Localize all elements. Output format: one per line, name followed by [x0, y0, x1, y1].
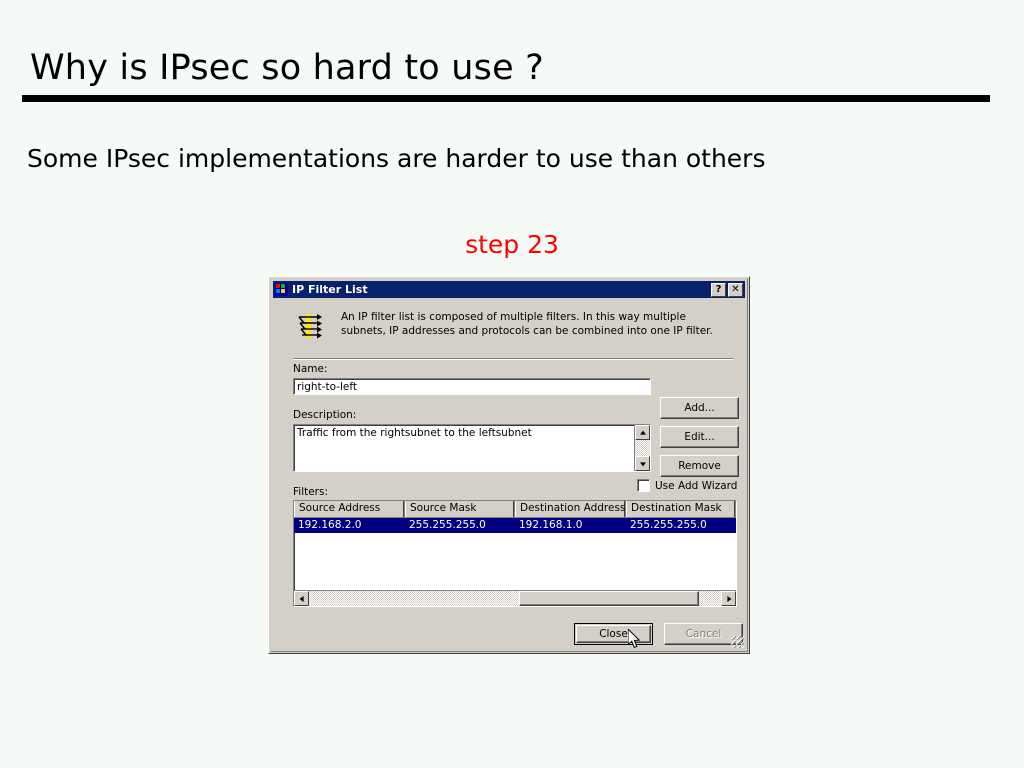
use-add-wizard-label: Use Add Wizard	[655, 480, 737, 492]
dialog-header: An IP filter list is composed of multipl…	[273, 301, 745, 359]
remove-button[interactable]: Remove	[660, 455, 739, 477]
slide-subtitle: Some IPsec implementations are harder to…	[27, 144, 766, 173]
ip-filter-list-dialog: IP Filter List ? ✕	[268, 276, 750, 654]
scroll-left-icon[interactable]	[294, 591, 309, 606]
scroll-right-icon[interactable]	[721, 591, 736, 606]
dialog-title: IP Filter List	[292, 283, 709, 296]
page-title: Why is IPsec so hard to use ?	[30, 48, 544, 88]
close-button-label: Close	[576, 625, 651, 643]
use-add-wizard-checkbox[interactable]: Use Add Wizard	[637, 479, 737, 492]
scroll-down-icon[interactable]	[635, 456, 650, 471]
table-row[interactable]: 192.168.2.0 255.255.255.0 192.168.1.0 25…	[294, 518, 736, 533]
name-label: Name:	[293, 363, 328, 375]
description-textarea[interactable]: Traffic from the rightsubnet to the left…	[293, 424, 651, 472]
scroll-thumb[interactable]	[519, 591, 699, 606]
scroll-up-icon[interactable]	[635, 425, 650, 440]
name-input[interactable]: right-to-left	[293, 378, 651, 395]
step-label: step 23	[0, 230, 1024, 259]
window-icon	[275, 283, 288, 296]
resize-grip[interactable]	[731, 635, 744, 648]
column-header-destination-mask[interactable]: Destination Mask	[626, 501, 736, 517]
description-label: Description:	[293, 409, 356, 421]
dialog-inner-frame: IP Filter List ? ✕	[270, 278, 748, 652]
add-button[interactable]: Add...	[660, 397, 739, 419]
description-scrollbar[interactable]	[634, 425, 650, 471]
close-icon[interactable]: ✕	[728, 283, 743, 297]
description-value: Traffic from the rightsubnet to the left…	[297, 427, 632, 440]
filters-label: Filters:	[293, 486, 328, 498]
listview-horizontal-scrollbar[interactable]	[294, 590, 736, 606]
listview-header: Source Address Source Mask Destination A…	[294, 501, 736, 518]
checkbox-box[interactable]	[637, 479, 650, 492]
edit-button[interactable]: Edit...	[660, 426, 739, 448]
dialog-header-text: An IP filter list is composed of multipl…	[341, 310, 731, 338]
column-header-source-address[interactable]: Source Address	[294, 501, 405, 517]
help-icon[interactable]: ?	[711, 283, 726, 297]
cell-source-address: 192.168.2.0	[294, 518, 405, 533]
cell-source-mask: 255.255.255.0	[405, 518, 515, 533]
close-button[interactable]: Close	[574, 623, 653, 645]
ip-filter-list-icon	[295, 311, 325, 341]
column-header-source-mask[interactable]: Source Mask	[405, 501, 515, 517]
title-divider	[22, 95, 990, 102]
cell-destination-address: 192.168.1.0	[515, 518, 626, 533]
header-separator	[293, 358, 733, 360]
scroll-track[interactable]	[635, 440, 650, 456]
dialog-titlebar[interactable]: IP Filter List ? ✕	[273, 281, 745, 298]
column-header-destination-address[interactable]: Destination Address	[515, 501, 626, 517]
filters-listview[interactable]: Source Address Source Mask Destination A…	[293, 500, 737, 607]
cell-destination-mask: 255.255.255.0	[626, 518, 736, 533]
